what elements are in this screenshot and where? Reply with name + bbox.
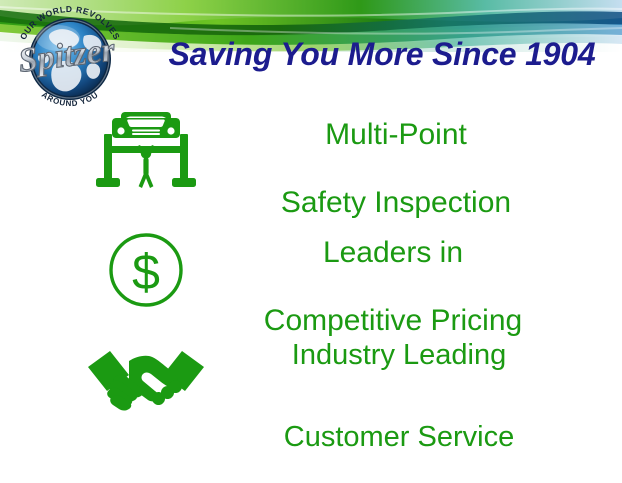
dollar-circle-icon: $ [106,230,186,310]
spitzer-logo: OUR WORLD REVOLVES AROUND YOU Spitzer [4,2,136,114]
car-lift-icon [90,108,202,196]
feature-line-1: Leaders in [323,236,463,269]
feature-row: Industry Leading Customer Service [70,330,580,422]
feature-row: Multi-Point Safety Inspection [78,104,578,200]
feature-line-1: Industry Leading [292,339,506,371]
feature-text: Multi-Point Safety Inspection [214,85,578,219]
dollar-circle-icon-wrapper: $ [78,224,214,316]
feature-line-1: Multi-Point [325,118,467,151]
feature-text: Industry Leading Customer Service [222,294,580,459]
handshake-icon [85,337,207,415]
page-title: Saving You More Since 1904 [148,38,616,72]
spitzer-logo-graphic: OUR WORLD REVOLVES AROUND YOU Spitzer [4,2,136,114]
handshake-icon-wrapper [70,330,222,422]
car-lift-icon-wrapper [78,104,214,200]
feature-line-2: Customer Service [284,421,514,453]
slide-canvas: OUR WORLD REVOLVES AROUND YOU Spitzer Sa… [0,0,622,483]
svg-text:$: $ [132,244,160,300]
